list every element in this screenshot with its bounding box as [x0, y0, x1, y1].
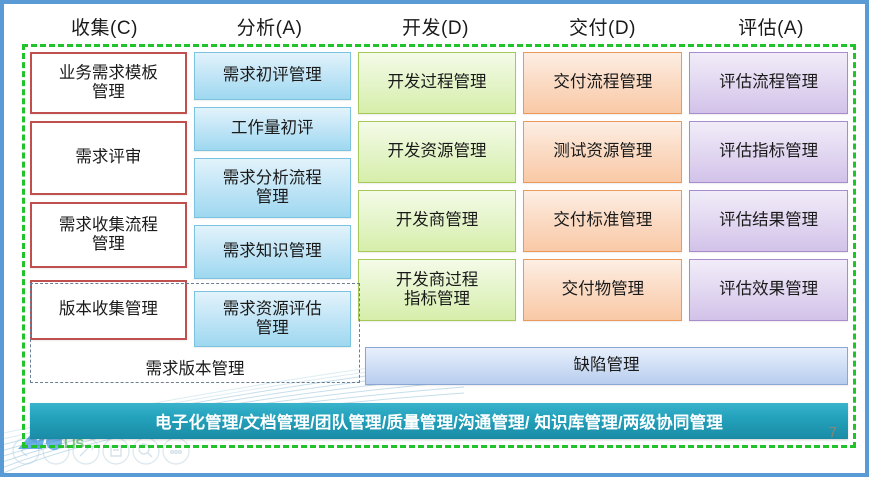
column-deliver: 交付流程管理 测试资源管理 交付标准管理 交付物管理	[523, 52, 682, 392]
cell-deliver-0[interactable]: 交付流程管理	[523, 52, 682, 114]
column-assess: 评估流程管理 评估指标管理 评估结果管理 评估效果管理	[689, 52, 848, 392]
column-header-analyze: 分析(A)	[187, 8, 352, 44]
cell-assess-3[interactable]: 评估效果管理	[689, 259, 848, 321]
cell-analyze-3[interactable]: 需求知识管理	[194, 225, 351, 279]
cell-develop-1[interactable]: 开发资源管理	[358, 121, 517, 183]
cell-analyze-0[interactable]: 需求初评管理	[194, 52, 351, 100]
cell-analyze-1[interactable]: 工作量初评	[194, 107, 351, 151]
column-develop: 开发过程管理 开发资源管理 开发商管理 开发商过程 指标管理	[358, 52, 517, 392]
cell-deliver-1[interactable]: 测试资源管理	[523, 121, 682, 183]
version-management-label: 需求版本管理	[30, 352, 360, 382]
column-analyze: 需求初评管理 工作量初评 需求分析流程 管理 需求知识管理 需求资源评估 管理	[194, 52, 351, 392]
foundation-bar[interactable]: 电子化管理/文档管理/团队管理/质量管理/沟通管理/ 知识库管理/两级协同管理	[30, 403, 848, 439]
cell-collect-1[interactable]: 需求评审	[30, 121, 187, 195]
column-header-collect: 收集(C)	[22, 8, 187, 44]
cell-collect-2[interactable]: 需求收集流程 管理	[30, 202, 187, 268]
column-header-row: 收集(C) 分析(A) 开发(D) 交付(D) 评估(A)	[22, 8, 856, 44]
column-collect: 业务需求模板 管理 需求评审 需求收集流程 管理 版本收集管理	[30, 52, 187, 392]
cell-develop-0[interactable]: 开发过程管理	[358, 52, 517, 114]
cell-develop-2[interactable]: 开发商管理	[358, 190, 517, 252]
capability-grid: 业务需求模板 管理 需求评审 需求收集流程 管理 版本收集管理 需求初评管理 工…	[30, 52, 848, 392]
cell-assess-0[interactable]: 评估流程管理	[689, 52, 848, 114]
cell-collect-0[interactable]: 业务需求模板 管理	[30, 52, 187, 114]
cell-develop-3[interactable]: 开发商过程 指标管理	[358, 259, 517, 321]
cell-analyze-2[interactable]: 需求分析流程 管理	[194, 158, 351, 218]
cell-deliver-3[interactable]: 交付物管理	[523, 259, 682, 321]
cell-assess-1[interactable]: 评估指标管理	[689, 121, 848, 183]
defect-management-row: 缺陷管理	[365, 347, 848, 385]
column-header-deliver: 交付(D)	[519, 8, 686, 44]
page-number: 7	[829, 424, 837, 441]
cell-collect-3[interactable]: 版本收集管理	[30, 280, 187, 340]
cell-defect-management[interactable]: 缺陷管理	[365, 347, 848, 385]
slide-canvas: LIS 收集(C) 分析(A) 开发(D) 交付(D) 评估(A) 业务需求模板…	[0, 0, 869, 477]
column-header-develop: 开发(D)	[352, 8, 519, 44]
cell-assess-2[interactable]: 评估结果管理	[689, 190, 848, 252]
cell-analyze-4[interactable]: 需求资源评估 管理	[194, 291, 351, 347]
column-header-assess: 评估(A)	[686, 8, 856, 44]
cell-deliver-2[interactable]: 交付标准管理	[523, 190, 682, 252]
